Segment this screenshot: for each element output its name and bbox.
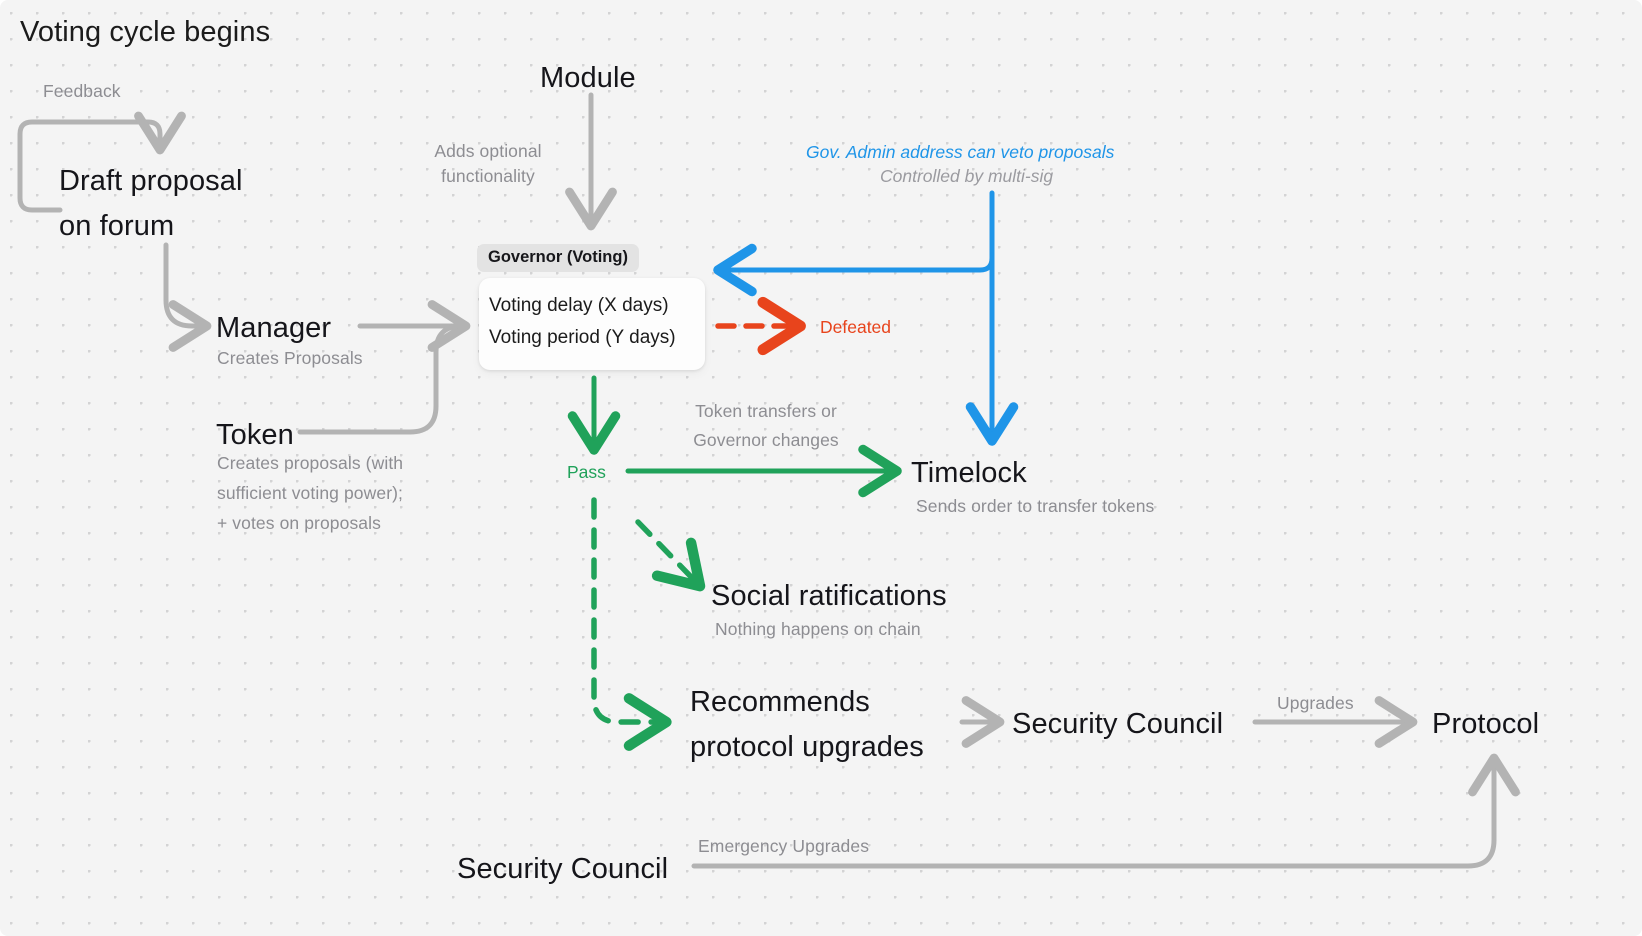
node-token-sub-line1: Creates proposals (with bbox=[217, 452, 403, 474]
annotation-veto-sub: Controlled by multi-sig bbox=[880, 165, 1053, 187]
edge-label-upgrades: Upgrades bbox=[1277, 692, 1354, 714]
edge-label-adds-optional-line1: Adds optional bbox=[418, 140, 558, 162]
governor-card[interactable]: Voting delay (X days) Voting period (Y d… bbox=[479, 278, 705, 370]
node-recommends-line2: protocol upgrades bbox=[690, 729, 924, 766]
edge-label-feedback: Feedback bbox=[43, 80, 121, 102]
edge-label-emergency-upgrades: Emergency Upgrades bbox=[698, 835, 869, 857]
edge-pass-to-recommends bbox=[594, 500, 662, 722]
governor-voting-period: Voting period (Y days) bbox=[489, 327, 676, 349]
node-recommends-line1: Recommends bbox=[690, 684, 870, 721]
node-social-ratifications-sub: Nothing happens on chain bbox=[715, 618, 921, 640]
node-manager: Manager bbox=[216, 310, 331, 347]
node-token-sub-line3: + votes on proposals bbox=[217, 512, 381, 534]
node-token: Token bbox=[216, 417, 294, 454]
node-draft-proposal-line2: on forum bbox=[59, 208, 174, 245]
node-timelock-sub: Sends order to transfer tokens bbox=[916, 495, 1154, 517]
diagram-canvas: Voting cycle begins Feedback Draft propo… bbox=[0, 0, 1642, 936]
edge-label-defeated: Defeated bbox=[820, 316, 891, 338]
node-security-council-top: Security Council bbox=[1012, 706, 1223, 743]
edge-label-pass: Pass bbox=[567, 461, 606, 483]
edge-draft-to-manager bbox=[166, 245, 203, 326]
node-timelock: Timelock bbox=[911, 455, 1027, 492]
governor-tab-label: Governor (Voting) bbox=[477, 244, 639, 272]
node-module: Module bbox=[540, 60, 636, 97]
edge-label-token-transfers-line1: Token transfers or bbox=[666, 400, 866, 422]
node-security-council-bottom: Security Council bbox=[457, 851, 668, 888]
node-token-sub-line2: sufficient voting power); bbox=[217, 482, 403, 504]
diagram-title: Voting cycle begins bbox=[20, 14, 270, 51]
edge-label-adds-optional-line2: functionality bbox=[418, 165, 558, 187]
governor-voting-delay: Voting delay (X days) bbox=[489, 295, 669, 317]
edge-veto-to-governor bbox=[722, 193, 992, 270]
node-draft-proposal-line1: Draft proposal bbox=[59, 163, 243, 200]
node-social-ratifications: Social ratifications bbox=[711, 578, 947, 615]
edge-label-token-transfers-line2: Governor changes bbox=[666, 429, 866, 451]
annotation-veto-main: Gov. Admin address can veto proposals bbox=[806, 141, 1114, 163]
node-manager-sub: Creates Proposals bbox=[217, 347, 363, 369]
edge-pass-to-social bbox=[638, 522, 697, 583]
node-protocol: Protocol bbox=[1432, 706, 1539, 743]
